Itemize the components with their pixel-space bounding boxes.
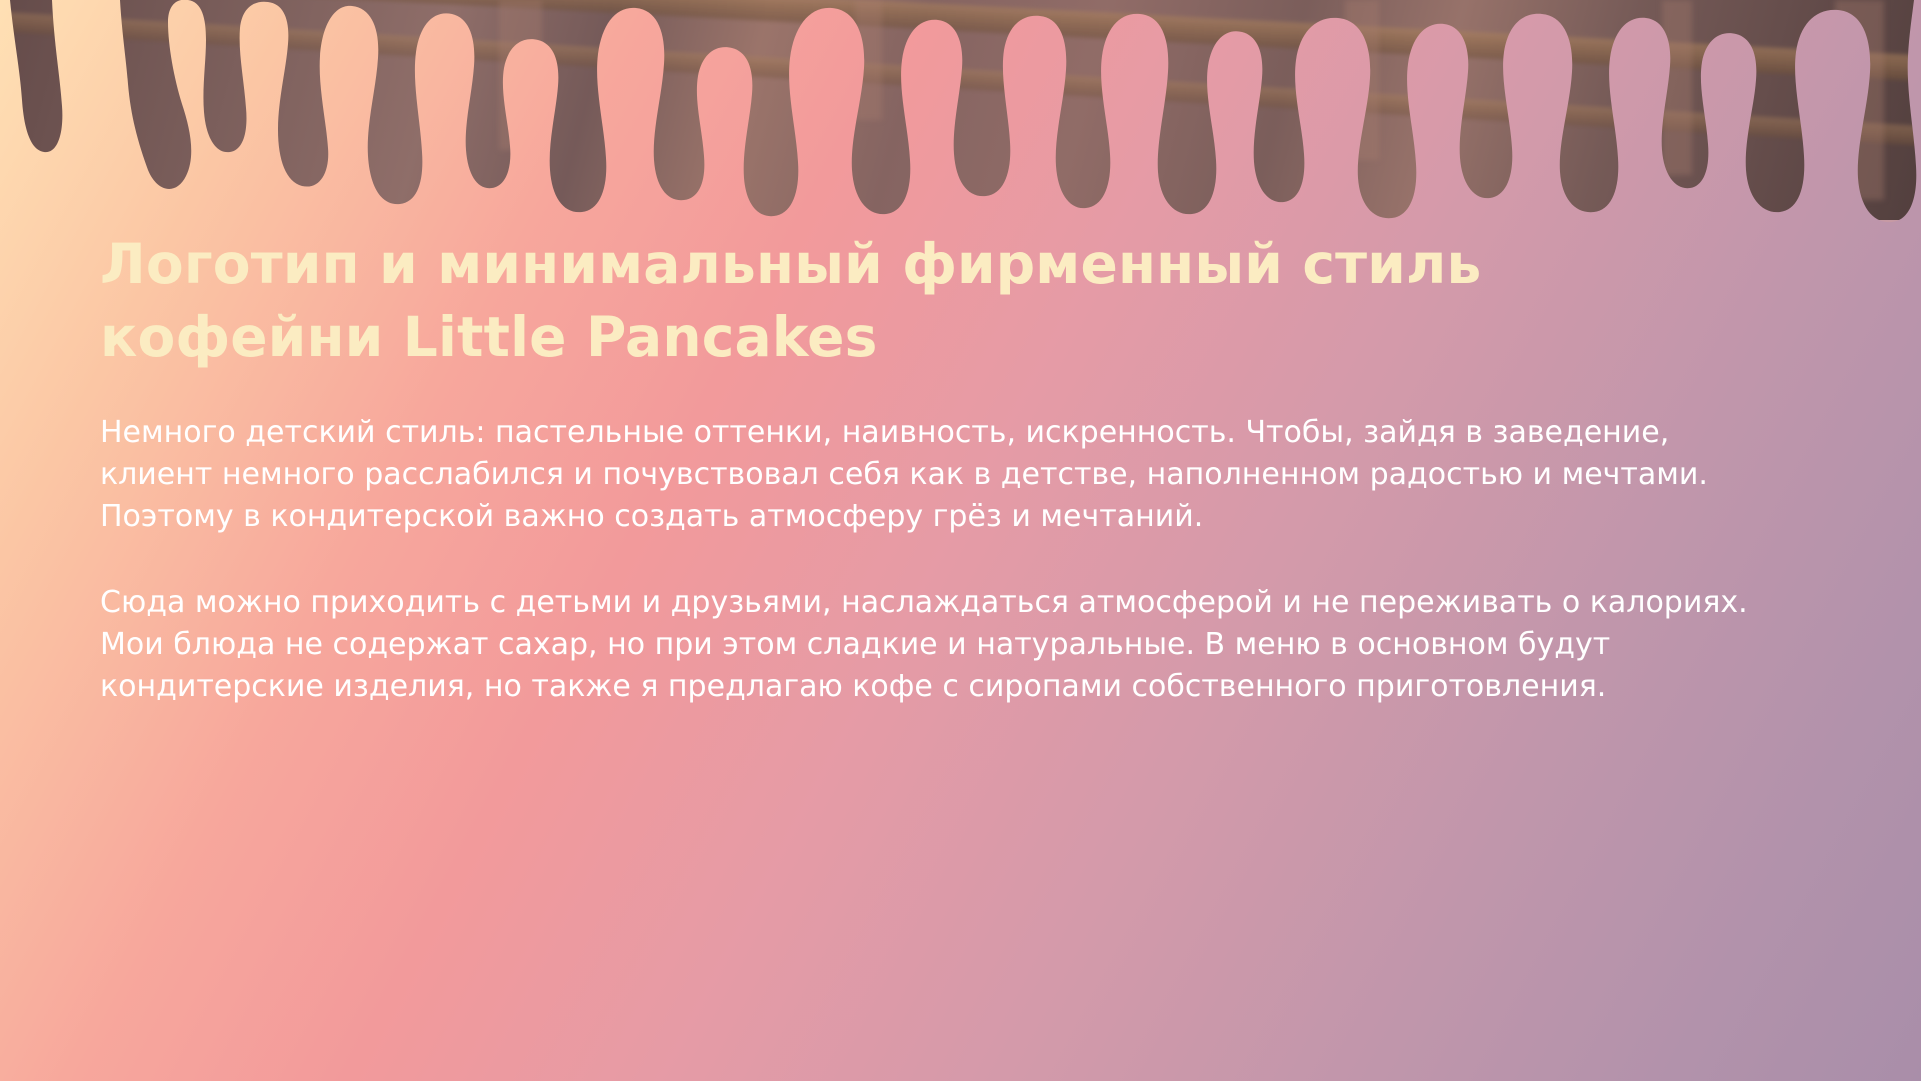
slide-body-copy: Немного детский стиль: пастельные оттенк… [100, 374, 1780, 708]
page-title: Логотип и минимальный фирменный стиль ко… [100, 228, 1620, 374]
body-paragraph: Сюда можно приходить с детьми и друзьями… [100, 582, 1780, 708]
body-paragraph: Немного детский стиль: пастельные оттенк… [100, 412, 1780, 538]
presentation-slide: Логотип и минимальный фирменный стиль ко… [0, 0, 1921, 1081]
slide-content: Логотип и минимальный фирменный стиль ко… [100, 228, 1790, 708]
